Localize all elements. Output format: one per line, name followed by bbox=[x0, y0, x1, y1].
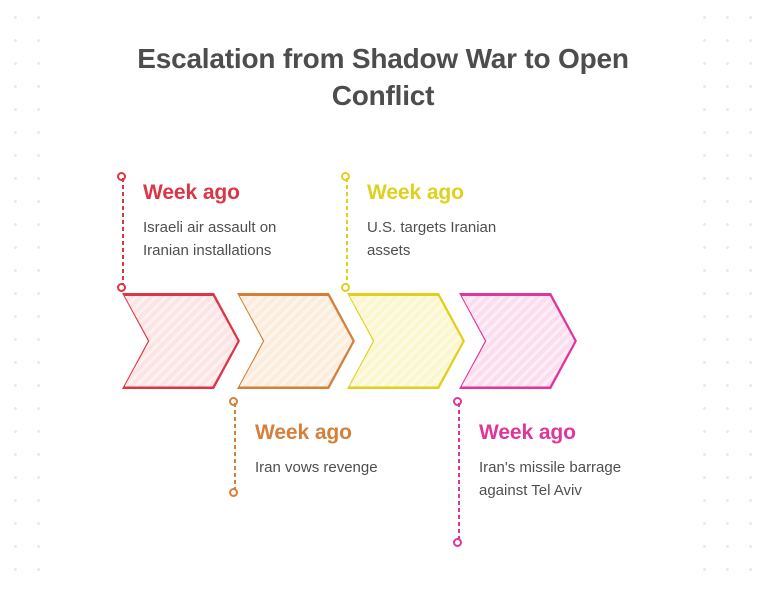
timeline-label-description-1: Israeli air assault on Iranian installat… bbox=[143, 217, 318, 263]
timeline-chevron-2 bbox=[237, 293, 355, 389]
connector-endpoint-bottom-1 bbox=[117, 283, 126, 292]
timeline-chevron-3 bbox=[347, 293, 465, 389]
timeline-label-heading-3: Week ago bbox=[367, 181, 542, 204]
timeline-connector-1 bbox=[117, 172, 130, 292]
timeline-label-description-3: U.S. targets Iranian assets bbox=[367, 217, 542, 263]
connector-endpoint-bottom-2 bbox=[229, 488, 238, 497]
timeline-label-4: Week ago Iran's missile barrage against … bbox=[479, 421, 629, 503]
timeline-label-1: Week ago Israeli air assault on Iranian … bbox=[143, 181, 318, 263]
connector-line-1 bbox=[122, 178, 124, 286]
timeline-label-3: Week ago U.S. targets Iranian assets bbox=[367, 181, 542, 263]
connector-endpoint-bottom-3 bbox=[341, 283, 350, 292]
timeline-label-2: Week ago Iran vows revenge bbox=[255, 421, 440, 480]
timeline-connector-3 bbox=[341, 172, 354, 292]
timeline-connector-4 bbox=[453, 397, 466, 547]
timeline-label-description-4: Iran's missile barrage against Tel Aviv bbox=[479, 457, 629, 503]
timeline-label-heading-4: Week ago bbox=[479, 421, 629, 444]
page-title: Escalation from Shadow War to Open Confl… bbox=[113, 40, 653, 114]
connector-line-2 bbox=[234, 403, 236, 491]
timeline-chevron-4 bbox=[459, 293, 577, 389]
timeline-label-description-2: Iran vows revenge bbox=[255, 457, 440, 480]
timeline-label-heading-1: Week ago bbox=[143, 181, 318, 204]
infographic-canvas: Escalation from Shadow War to Open Confl… bbox=[0, 0, 767, 591]
connector-line-4 bbox=[458, 403, 460, 541]
connector-line-3 bbox=[346, 178, 348, 286]
timeline-connector-2 bbox=[229, 397, 242, 497]
timeline-label-heading-2: Week ago bbox=[255, 421, 440, 444]
timeline-chevron-1 bbox=[122, 293, 240, 389]
connector-endpoint-bottom-4 bbox=[453, 538, 462, 547]
